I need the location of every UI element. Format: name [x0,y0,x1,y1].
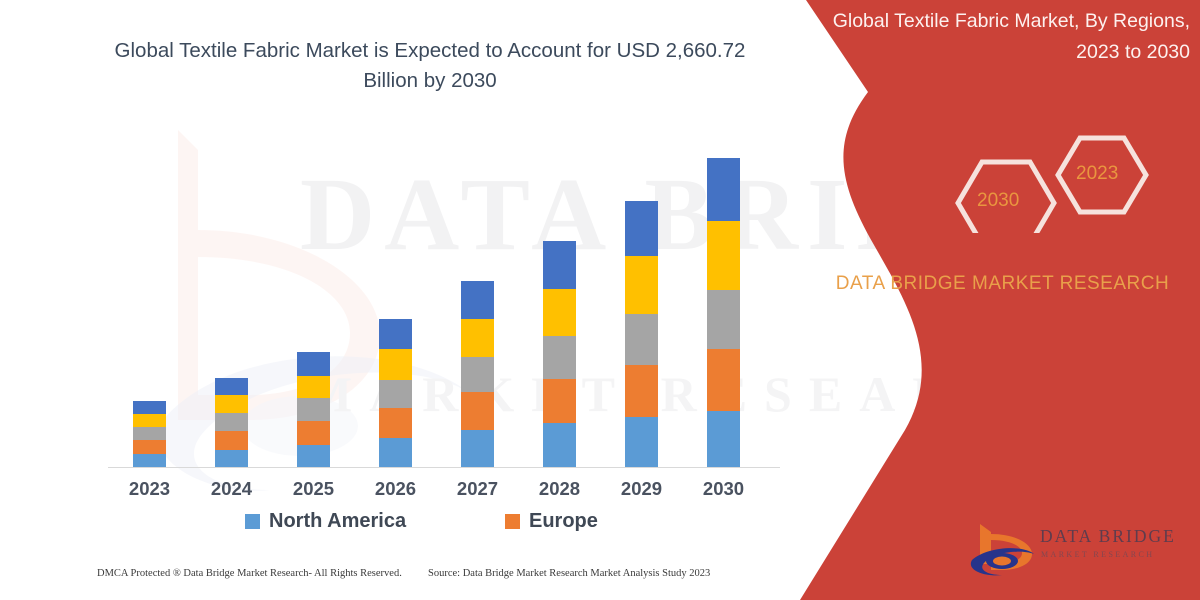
bar-segment[interactable] [133,440,166,454]
x-tick-label-2028: 2028 [525,478,595,500]
bar-segment[interactable] [297,352,330,376]
bar-segment[interactable] [707,221,740,291]
bar-segment[interactable] [215,413,248,431]
hexagon-shapes-icon [920,118,1190,233]
bar-group-2027[interactable] [461,281,494,468]
hexagon-group: 2023 2030 [920,118,1190,233]
bar-segment[interactable] [625,417,658,468]
x-tick-label-2025: 2025 [279,478,349,500]
bar-segment[interactable] [379,380,412,409]
chart-title: Global Textile Fabric Market is Expected… [110,36,750,96]
bar-group-2025[interactable] [297,352,330,468]
x-tick-label-2023: 2023 [115,478,185,500]
bar-segment[interactable] [543,336,576,379]
bar-segment[interactable] [297,421,330,445]
bar-segment[interactable] [379,319,412,349]
dmca-notice: DMCA Protected ® Data Bridge Market Rese… [97,568,402,579]
footer: DMCA Protected ® Data Bridge Market Rese… [0,566,800,590]
bar-segment[interactable] [461,357,494,393]
bar-segment[interactable] [133,414,166,427]
bar-segment[interactable] [707,158,740,221]
bar-segment[interactable] [215,395,248,413]
bar-segment[interactable] [133,401,166,414]
panel-brand-name: DATA BRIDGE MARKET RESEARCH [820,268,1185,299]
bar-group-2030[interactable] [707,158,740,468]
bar-segment[interactable] [215,450,248,468]
bar-segment[interactable] [625,201,658,257]
bar-segment[interactable] [379,438,412,468]
x-tick-label-2024: 2024 [197,478,267,500]
bar-segment[interactable] [297,445,330,468]
bar-segment[interactable] [707,349,740,412]
plot-bars [110,140,770,468]
x-axis-line [108,467,780,468]
bar-group-2023[interactable] [133,401,166,468]
bar-group-2026[interactable] [379,319,412,468]
bar-segment[interactable] [625,256,658,314]
bar-segment[interactable] [707,290,740,349]
logo-tagline: MARKET RESEARCH [1041,550,1154,559]
right-panel: Global Textile Fabric Market, By Regions… [800,0,1200,600]
bar-segment[interactable] [543,423,576,468]
panel-title: Global Textile Fabric Market, By Regions… [818,6,1190,68]
legend-item-north-america[interactable]: North America [245,510,406,533]
bar-segment[interactable] [543,241,576,289]
legend-label: North America [269,510,406,533]
chart-infographic: DATA BRIDGE MARKET RESEARCH Global Texti… [0,0,1200,600]
bar-group-2029[interactable] [625,201,658,468]
bar-segment[interactable] [297,398,330,421]
x-axis-labels: 20232024202520262027202820292030 [110,478,770,504]
bar-segment[interactable] [461,430,494,468]
x-tick-label-2029: 2029 [607,478,677,500]
bar-segment[interactable] [625,365,658,418]
bar-segment[interactable] [379,349,412,380]
bar-segment[interactable] [461,319,494,357]
x-tick-label-2026: 2026 [361,478,431,500]
legend-item-europe[interactable]: Europe [505,510,598,533]
bar-segment[interactable] [133,454,166,468]
legend-swatch-icon [245,514,260,529]
bar-group-2028[interactable] [543,241,576,468]
hex-label-2030: 2030 [977,190,1019,212]
logo-wordmark: DATA BRIDGE [1040,526,1176,547]
legend-swatch-icon [505,514,520,529]
bar-segment[interactable] [543,379,576,424]
bar-group-2024[interactable] [215,378,248,468]
chart-legend: North AmericaEurope [110,510,770,538]
legend-label: Europe [529,510,598,533]
bar-segment[interactable] [297,376,330,399]
x-tick-label-2027: 2027 [443,478,513,500]
bar-segment[interactable] [215,378,248,396]
bar-segment[interactable] [707,411,740,468]
bar-segment[interactable] [543,289,576,336]
bar-segment[interactable] [625,314,658,365]
x-tick-label-2030: 2030 [689,478,759,500]
bar-segment[interactable] [133,427,166,440]
bar-segment[interactable] [461,392,494,430]
hex-label-2023: 2023 [1076,163,1118,185]
source-note: Source: Data Bridge Market Research Mark… [428,568,710,579]
bar-segment[interactable] [379,408,412,438]
bar-segment[interactable] [461,281,494,319]
data-bridge-logo: DATA BRIDGE MARKET RESEARCH [968,518,1190,580]
bar-segment[interactable] [215,431,248,450]
